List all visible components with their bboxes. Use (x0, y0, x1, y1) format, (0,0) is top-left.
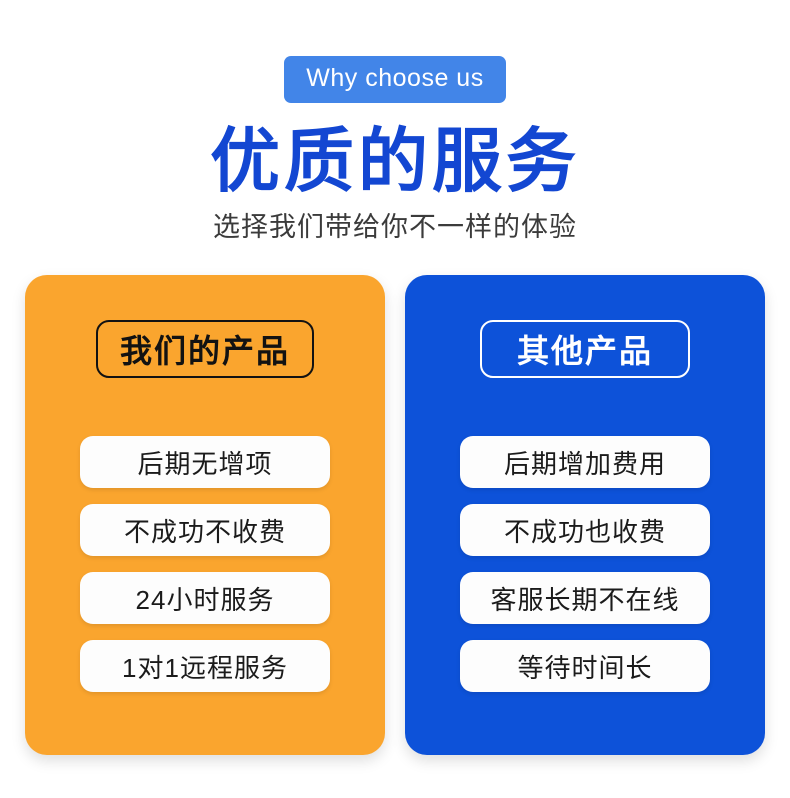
list-item: 后期增加费用 (460, 436, 710, 488)
list-item: 后期无增项 (80, 436, 330, 488)
list-item: 24小时服务 (80, 572, 330, 624)
card-other-products-list: 后期增加费用 不成功也收费 客服长期不在线 等待时间长 (460, 436, 710, 692)
list-item: 不成功不收费 (80, 504, 330, 556)
promo-page: Why choose us 优质的服务 选择我们带给你不一样的体验 我们的产品 … (0, 0, 790, 798)
list-item: 1对1远程服务 (80, 640, 330, 692)
page-title: 优质的服务 (0, 125, 790, 199)
comparison-cards: 我们的产品 后期无增项 不成功不收费 24小时服务 1对1远程服务 其他产品 后… (0, 275, 790, 757)
list-item: 不成功也收费 (460, 504, 710, 556)
eyebrow-wrapper: Why choose us (0, 56, 790, 103)
card-other-products-title: 其他产品 (480, 320, 690, 378)
eyebrow-badge: Why choose us (284, 56, 505, 103)
list-item: 客服长期不在线 (460, 572, 710, 624)
card-our-products: 我们的产品 后期无增项 不成功不收费 24小时服务 1对1远程服务 (25, 275, 385, 755)
card-our-products-list: 后期无增项 不成功不收费 24小时服务 1对1远程服务 (80, 436, 330, 692)
card-our-products-title: 我们的产品 (96, 320, 314, 378)
page-header: Why choose us 优质的服务 选择我们带给你不一样的体验 (0, 0, 790, 243)
page-subtitle: 选择我们带给你不一样的体验 (0, 211, 790, 243)
card-other-products: 其他产品 后期增加费用 不成功也收费 客服长期不在线 等待时间长 (405, 275, 765, 755)
list-item: 等待时间长 (460, 640, 710, 692)
